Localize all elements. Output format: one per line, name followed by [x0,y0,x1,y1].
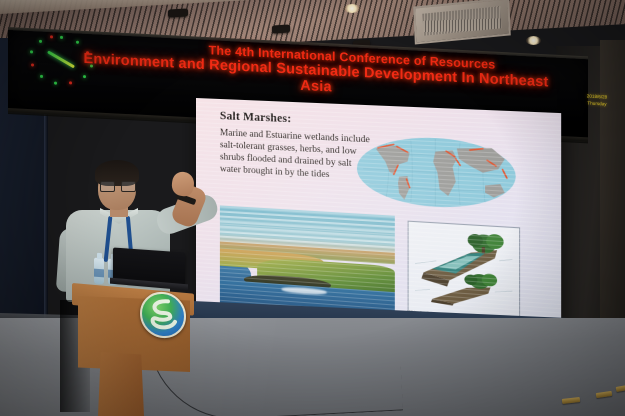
ceiling-speaker [168,8,188,17]
ceiling-speaker [272,25,290,34]
ceiling-ac-vent [413,0,511,45]
eyeglasses-icon [100,181,134,190]
ceiling-downlight [526,36,541,45]
slide-body-text: Marine and Estuarine wetlands include sa… [220,127,374,184]
podium-column [98,352,144,416]
led-banner-date: 2018/6/28 Thursday [574,93,620,109]
world-distribution-map [355,131,518,214]
water-bottle [94,258,104,285]
right-wall-far [600,40,625,350]
ceiling-downlight [344,4,360,13]
conference-hall-photo: The 4th International Conference of Reso… [0,0,625,416]
slide-title: Salt Marshes: [220,110,291,125]
